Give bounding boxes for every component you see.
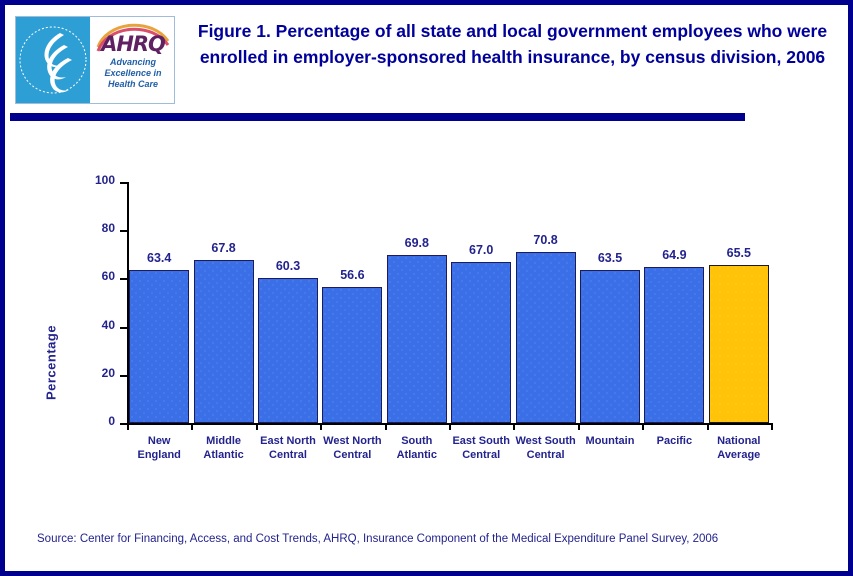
x-axis-category-line: East North — [256, 434, 320, 448]
x-axis-category-line: Central — [449, 448, 513, 462]
x-axis-category-label: Mountain — [578, 434, 642, 448]
x-axis-category-line: England — [127, 448, 191, 462]
x-axis-category-label: West SouthCentral — [513, 434, 577, 462]
x-tick-mark — [642, 423, 644, 430]
x-axis-category-label: East SouthCentral — [449, 434, 513, 462]
x-axis-category-line: West North — [320, 434, 384, 448]
ahrq-logo: AHRQ Advancing Excellence in Health Care — [90, 17, 174, 103]
x-axis-category-line: South — [385, 434, 449, 448]
y-tick-label: 60 — [81, 269, 115, 283]
y-axis-title: Percentage — [44, 303, 59, 423]
ahrq-wordmark: AHRQ — [94, 34, 172, 55]
plot-area: 020406080100 63.467.860.356.669.867.070.… — [127, 182, 771, 423]
x-tick-mark — [320, 423, 322, 430]
x-axis-category-label: SouthAtlantic — [385, 434, 449, 462]
bar-value-label: 65.5 — [699, 246, 779, 260]
x-tick-mark — [771, 423, 773, 430]
bar — [387, 255, 447, 423]
bar — [451, 262, 511, 423]
y-tick-mark — [120, 278, 127, 280]
x-tick-mark — [385, 423, 387, 430]
bar-value-label: 56.6 — [312, 268, 392, 282]
y-tick-mark — [120, 375, 127, 377]
bar-chart: Percentage 020406080100 63.467.860.356.6… — [5, 125, 848, 505]
x-tick-mark — [578, 423, 580, 430]
source-note: Source: Center for Financing, Access, an… — [37, 533, 718, 545]
ahrq-tagline: Advancing Excellence in Health Care — [90, 57, 174, 90]
y-tick-label: 40 — [81, 318, 115, 332]
y-tick-label: 80 — [81, 221, 115, 235]
header: AHRQ Advancing Excellence in Health Care… — [10, 10, 853, 110]
x-axis-category-line: Central — [256, 448, 320, 462]
bar — [322, 287, 382, 423]
x-axis-category-line: Pacific — [642, 434, 706, 448]
agency-logo-block: AHRQ Advancing Excellence in Health Care — [15, 16, 175, 104]
x-axis-category-line: Central — [320, 448, 384, 462]
y-tick-mark — [120, 182, 127, 184]
x-axis-category-line: National — [707, 434, 771, 448]
bar — [644, 267, 704, 423]
x-axis-category-line: East South — [449, 434, 513, 448]
bar-value-label: 70.8 — [506, 233, 586, 247]
hhs-seal-icon — [16, 17, 90, 103]
x-axis-category-label: MiddleAtlantic — [191, 434, 255, 462]
bar — [516, 252, 576, 423]
x-axis-category-label: NewEngland — [127, 434, 191, 462]
x-tick-mark — [707, 423, 709, 430]
header-divider — [10, 113, 745, 121]
y-tick-mark — [120, 327, 127, 329]
x-axis-category-line: Mountain — [578, 434, 642, 448]
y-tick-mark — [120, 423, 127, 425]
x-tick-mark — [513, 423, 515, 430]
x-tick-mark — [449, 423, 451, 430]
x-axis-category-label: West NorthCentral — [320, 434, 384, 462]
y-tick-label: 0 — [81, 414, 115, 428]
bar — [258, 278, 318, 423]
x-axis-category-line: West South — [513, 434, 577, 448]
x-tick-mark — [256, 423, 258, 430]
bar — [709, 265, 769, 423]
x-axis-category-line: Atlantic — [385, 448, 449, 462]
x-axis-category-line: Middle — [191, 434, 255, 448]
page-title: Figure 1. Percentage of all state and lo… — [180, 18, 845, 70]
x-tick-mark — [127, 423, 129, 430]
x-axis-category-line: Average — [707, 448, 771, 462]
bar — [194, 260, 254, 423]
bar — [580, 270, 640, 423]
y-tick-mark — [120, 230, 127, 232]
x-axis-category-line: New — [127, 434, 191, 448]
x-axis-category-line: Atlantic — [191, 448, 255, 462]
y-tick-label: 20 — [81, 366, 115, 380]
bar-value-label: 67.8 — [184, 241, 264, 255]
bar — [129, 270, 189, 423]
x-tick-mark — [191, 423, 193, 430]
x-axis-category-label: Pacific — [642, 434, 706, 448]
y-tick-label: 100 — [81, 173, 115, 187]
x-axis-category-label: East NorthCentral — [256, 434, 320, 462]
x-axis-category-line: Central — [513, 448, 577, 462]
figure-page: AHRQ Advancing Excellence in Health Care… — [0, 0, 853, 576]
x-axis-category-label: NationalAverage — [707, 434, 771, 462]
